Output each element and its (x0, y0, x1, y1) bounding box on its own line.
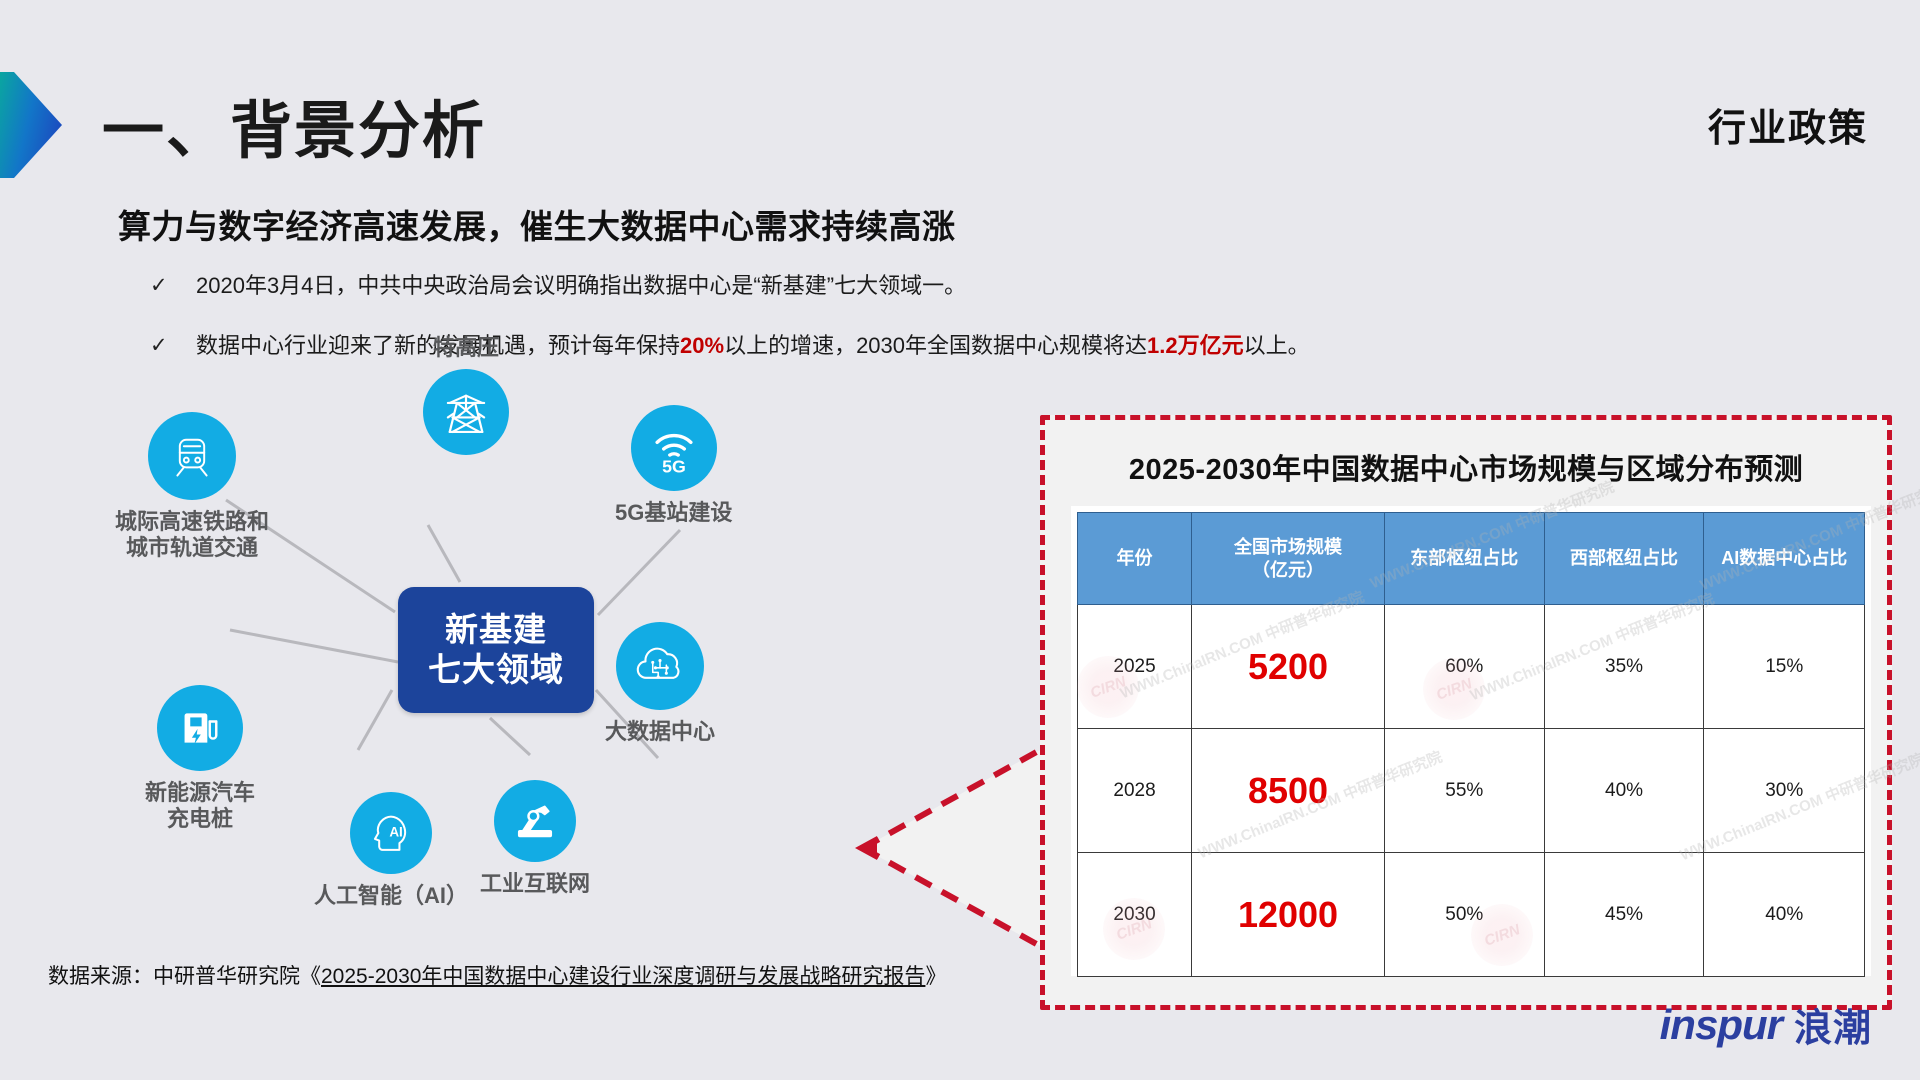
cell-year: 2030 (1078, 853, 1192, 977)
svg-text:AI: AI (389, 824, 403, 839)
inspur-logo-en: inspur (1660, 1001, 1782, 1049)
cell-west-share: 35% (1544, 605, 1704, 729)
source-note-prefix: 数据来源：中研普华研究院《 (48, 965, 321, 988)
bullet-2-highlight-1: 20% (680, 333, 724, 358)
ai-head-icon: AI (350, 792, 432, 874)
bullet-2-highlight-2: 1.2万亿元 (1147, 333, 1244, 358)
source-note-suffix: 》 (925, 965, 946, 988)
diagram-node-iiot[interactable]: 工业互联网 (480, 780, 590, 897)
bullet-2-part-2: 以上的增速，2030年全国数据中心规模将达 (724, 333, 1147, 358)
table-col-header: 年份 (1078, 513, 1192, 605)
5g-wifi-icon: 5G (631, 405, 717, 491)
new-infrastructure-diagram: 特高压 (40, 390, 1050, 970)
cell-market-size: 12000 (1192, 853, 1385, 977)
inspur-logo-cn: 浪潮 (1794, 997, 1872, 1052)
cell-east-share: 55% (1384, 729, 1544, 853)
cloud-data-icon (616, 622, 704, 710)
bullet-text-2: 数据中心行业迎来了新的发展机遇，预计每年保持20%以上的增速，2030年全国数据… (196, 333, 1310, 359)
diagram-node-uhv-label: 特高压 (433, 335, 499, 361)
source-note: 数据来源：中研普华研究院《2025-2030年中国数据中心建设行业深度调研与发展… (48, 960, 946, 990)
bullet-item-2: ✓ 数据中心行业迎来了新的发展机遇，预计每年保持20%以上的增速，2030年全国… (150, 333, 1310, 359)
source-note-report-title: 2025-2030年中国数据中心建设行业深度调研与发展战略研究报告 (321, 965, 925, 988)
table-row: 2025 5200 60% 35% 15% (1078, 605, 1865, 729)
train-icon (148, 412, 236, 500)
svg-text:5G: 5G (662, 456, 686, 476)
diagram-node-uhv[interactable]: 特高压 (423, 335, 509, 455)
cell-west-share: 45% (1544, 853, 1704, 977)
diagram-node-ai[interactable]: AI 人工智能（AI） (314, 792, 468, 909)
diagram-node-idc[interactable]: 大数据中心 (605, 622, 715, 745)
center-node-line2: 七大领域 (428, 650, 564, 690)
bullet-2-part-3: 以上。 (1244, 333, 1310, 358)
diagram-center-node: 新基建 七大领域 (398, 587, 594, 713)
table-row: 2030 12000 50% 45% 40% (1078, 853, 1865, 977)
data-table-container: CIRN CIRN CIRN CIRN WWW.ChinaIRN.COM 中研普… (1071, 506, 1871, 976)
slide-root: 一、背景分析 行业政策 算力与数字经济高速发展，催生大数据中心需求持续高涨 ✓ … (0, 0, 1920, 1080)
diagram-node-5g-label: 5G基站建设 (615, 500, 732, 526)
cell-east-share: 60% (1384, 605, 1544, 729)
table-title: 2025-2030年中国数据中心市场规模与区域分布预测 (1045, 446, 1887, 488)
table-col-header: 全国市场规模 （亿元） (1192, 513, 1385, 605)
inspur-logo: inspur 浪潮 (1660, 997, 1872, 1052)
cell-west-share: 40% (1544, 729, 1704, 853)
cell-east-share: 50% (1384, 853, 1544, 977)
cell-ai-share: 40% (1704, 853, 1865, 977)
diagram-node-idc-label: 大数据中心 (605, 719, 715, 745)
diagram-node-5g[interactable]: 5G 5G基站建设 (615, 405, 732, 526)
chevron-right-arrow-icon (0, 72, 62, 178)
diagram-node-rail-label: 城际高速铁路和 城市轨道交通 (115, 509, 269, 561)
bullet-text-1: 2020年3月4日，中共中央政治局会议明确指出数据中心是“新基建”七大领域一。 (196, 273, 966, 299)
table-header-row: 年份 全国市场规模 （亿元） 东部枢纽占比 西部枢纽占比 AI数据中心占比 (1078, 513, 1865, 605)
cell-market-size: 5200 (1192, 605, 1385, 729)
slide-subtitle: 算力与数字经济高速发展，催生大数据中心需求持续高涨 (118, 200, 956, 248)
center-node-line1: 新基建 (445, 610, 547, 650)
table-col-header: AI数据中心占比 (1704, 513, 1865, 605)
table-col-header: 西部枢纽占比 (1544, 513, 1704, 605)
diagram-node-ev-label: 新能源汽车 充电桩 (145, 780, 255, 832)
header-category-label: 行业政策 (1708, 97, 1868, 152)
diagram-node-ai-label: 人工智能（AI） (314, 883, 468, 909)
diagram-node-iiot-label: 工业互联网 (480, 871, 590, 897)
cell-market-size: 8500 (1192, 729, 1385, 853)
bullet-item-1: ✓ 2020年3月4日，中共中央政治局会议明确指出数据中心是“新基建”七大领域一… (150, 273, 966, 299)
ev-charger-icon (157, 685, 243, 771)
table-col-header: 东部枢纽占比 (1384, 513, 1544, 605)
diagram-node-ev[interactable]: 新能源汽车 充电桩 (145, 685, 255, 832)
table-row: 2028 8500 55% 40% 30% (1078, 729, 1865, 853)
cell-ai-share: 30% (1704, 729, 1865, 853)
cell-year: 2028 (1078, 729, 1192, 853)
robot-arm-icon (494, 780, 576, 862)
cell-year: 2025 (1078, 605, 1192, 729)
cell-ai-share: 15% (1704, 605, 1865, 729)
forecast-callout-panel: 2025-2030年中国数据中心市场规模与区域分布预测 CIRN CIRN CI… (1040, 415, 1892, 1010)
diagram-node-rail[interactable]: 城际高速铁路和 城市轨道交通 (115, 412, 269, 561)
page-title: 一、背景分析 (102, 80, 486, 170)
power-tower-icon (423, 369, 509, 455)
check-icon: ✓ (150, 273, 196, 298)
check-icon: ✓ (150, 333, 196, 358)
forecast-table: 年份 全国市场规模 （亿元） 东部枢纽占比 西部枢纽占比 AI数据中心占比 20… (1077, 512, 1865, 977)
